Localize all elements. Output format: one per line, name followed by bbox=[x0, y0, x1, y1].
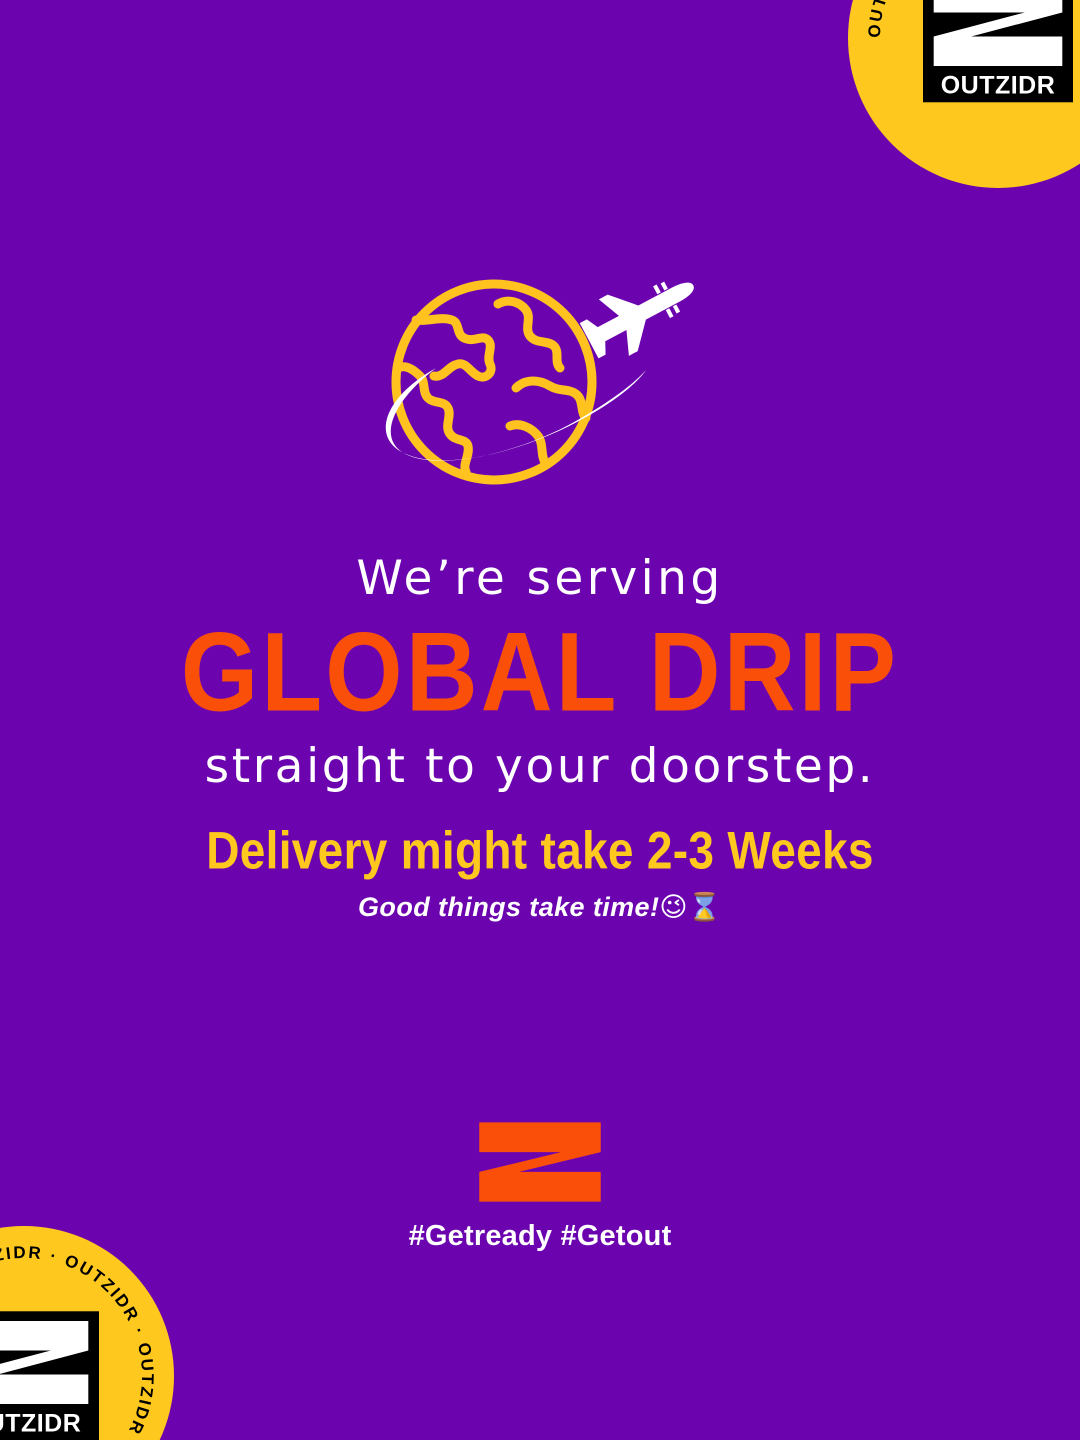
headline-line-2: GLOBAL DRIP bbox=[0, 613, 1080, 734]
badge-z-box bbox=[0, 1311, 99, 1411]
hero-illustration bbox=[0, 276, 1080, 502]
headline-block: We’re serving GLOBAL DRIP straight to yo… bbox=[0, 552, 1080, 794]
outzidr-z-logo-icon bbox=[0, 1318, 91, 1406]
globe-icon bbox=[396, 284, 592, 480]
hourglass-emoji-icon: ⌛ bbox=[688, 892, 722, 923]
badge-word: OUTZIDR bbox=[0, 1410, 99, 1440]
footer-brand-block: #Getready #Getout bbox=[0, 1118, 1080, 1253]
badge-word: OUTZIDR bbox=[923, 72, 1073, 103]
winking-face-emoji-icon: 😉 bbox=[659, 892, 688, 923]
badge-center-mark: OUTZIDR bbox=[0, 1311, 99, 1440]
footer-tagline: #Getready #Getout bbox=[0, 1220, 1080, 1253]
badge-top-right: OUTZIDR · OUTZIDR · OUTZIDR · OUTZIDR · … bbox=[848, 0, 1080, 188]
delivery-subtext-label: Good things take time! bbox=[358, 892, 659, 922]
badge-center-mark: OUTZIDR bbox=[923, 0, 1073, 103]
delivery-notice-block: Delivery might take 2-3 Weeks Good thing… bbox=[0, 822, 1080, 923]
outzidr-z-logo-icon bbox=[931, 0, 1065, 69]
delivery-time-text: Delivery might take 2-3 Weeks bbox=[0, 822, 1080, 880]
badge-z-box bbox=[923, 0, 1073, 74]
headline-line-1: We’re serving bbox=[0, 552, 1080, 607]
promo-poster: OUTZIDR · OUTZIDR · OUTZIDR · OUTZIDR · … bbox=[0, 0, 1080, 1440]
delivery-subtext: Good things take time!😉⌛ bbox=[0, 891, 1080, 923]
headline-line-3: straight to your doorstep. bbox=[0, 740, 1080, 795]
globe-with-airplane-icon bbox=[370, 276, 710, 502]
outzidr-z-logo-icon bbox=[478, 1118, 602, 1206]
badge-bottom-left: OUTZIDR · OUTZIDR · OUTZIDR · OUTZIDR · … bbox=[0, 1226, 174, 1440]
airplane-icon bbox=[574, 276, 708, 369]
